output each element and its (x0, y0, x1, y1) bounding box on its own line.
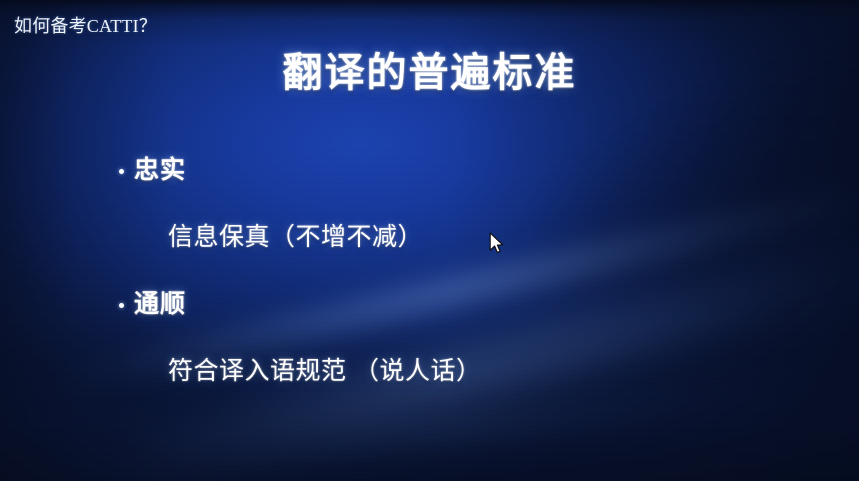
bullet-item-2-detail: 符合译入语规范 （说人话） (168, 356, 481, 386)
presentation-slide: 如何备考CATTI？ 翻译的普遍标准 忠实 信息保真（不增不减） 通顺 符合译入… (0, 0, 859, 481)
bullet-dot-icon (119, 303, 124, 308)
slide-title: 翻译的普遍标准 (0, 50, 859, 96)
bullet-item-2-label: 通顺 (134, 289, 186, 319)
slide-header-label: 如何备考CATTI？ (14, 16, 157, 36)
bullet-item-2: 通顺 (119, 289, 186, 319)
bullet-item-1: 忠实 (119, 155, 186, 185)
bullet-item-1-label: 忠实 (134, 155, 186, 185)
bullet-item-1-detail: 信息保真（不增不减） (168, 222, 423, 252)
bullet-dot-icon (119, 169, 124, 174)
slide-content: 如何备考CATTI？ 翻译的普遍标准 忠实 信息保真（不增不减） 通顺 符合译入… (0, 0, 859, 481)
